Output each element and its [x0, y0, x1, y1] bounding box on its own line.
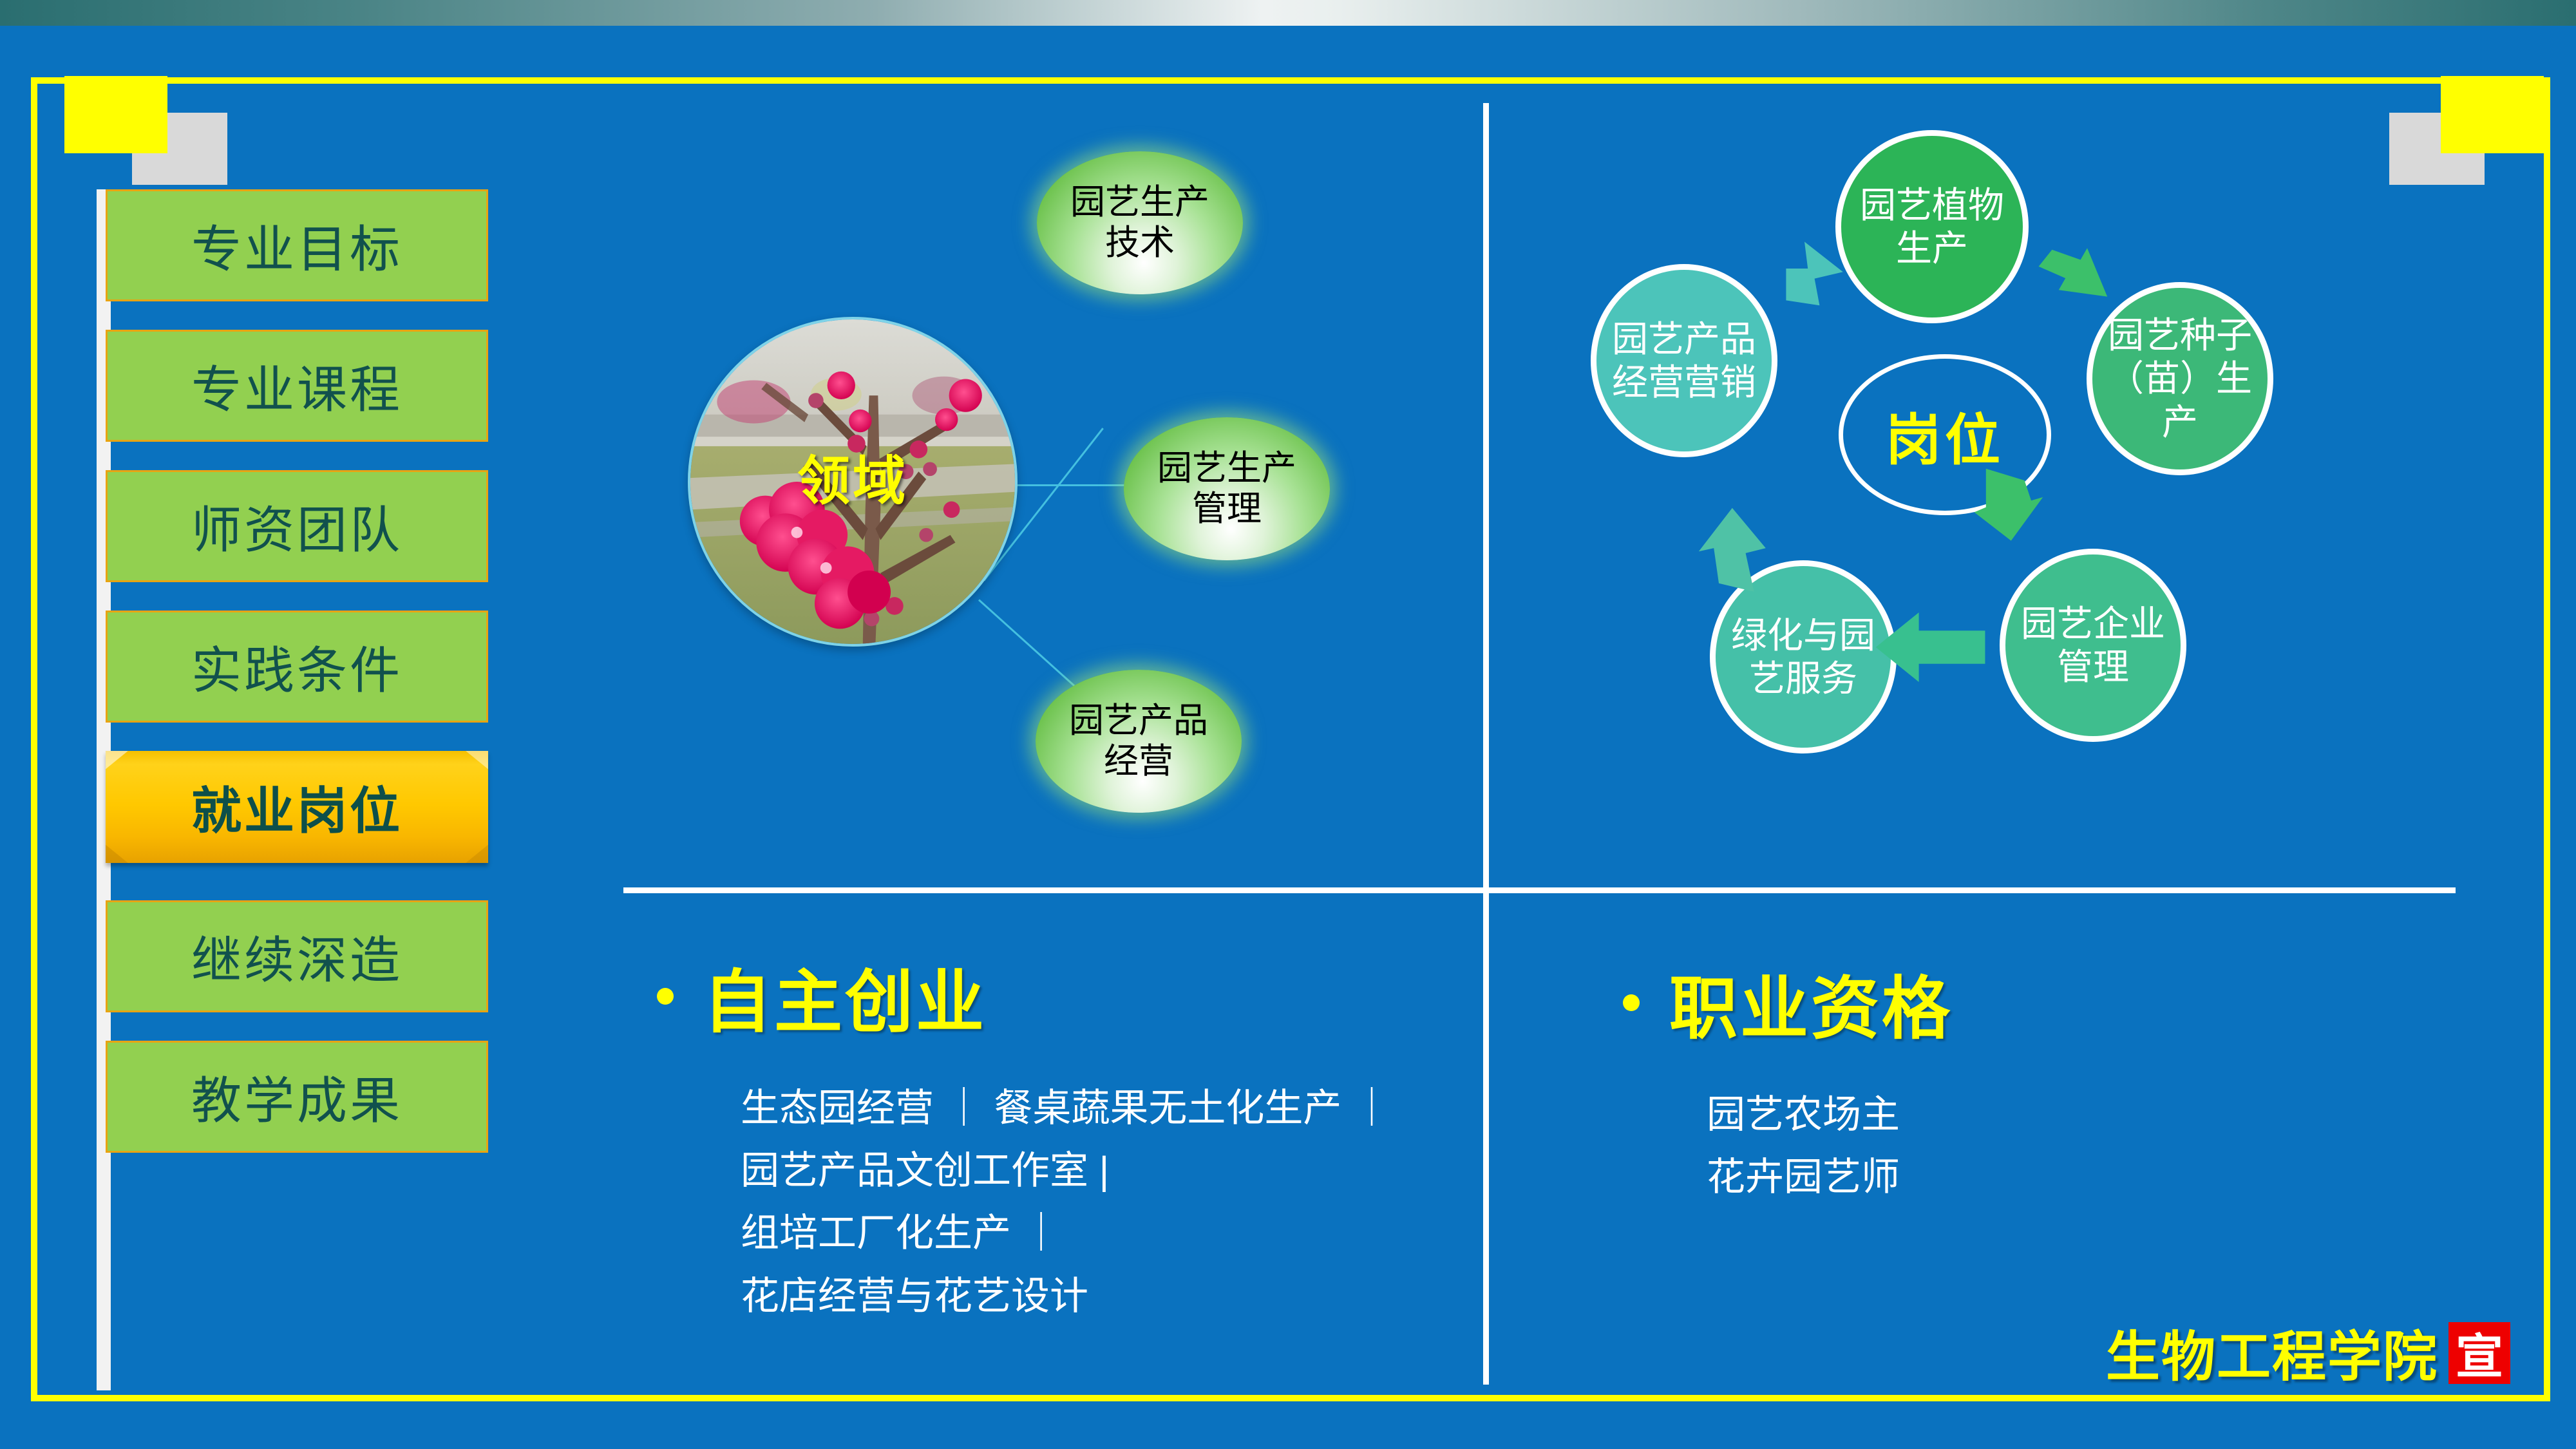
top-right-yellow-square [2441, 76, 2544, 153]
cycle-center-label: 岗位 [1886, 395, 2004, 475]
cycle-node-label: 园艺种子（苗）生产 [2103, 314, 2257, 444]
footer-seal-stamp: 宣 [2448, 1322, 2510, 1384]
sidebar-item-further-study[interactable]: 继续深造 [106, 900, 488, 1012]
sidebar-item-faculty-team[interactable]: 师资团队 [106, 470, 488, 582]
sidebar-item-major-goal[interactable]: 专业目标 [106, 189, 488, 301]
block-line: 花卉园艺师 [1707, 1146, 2396, 1208]
block-header: 自主创业 [657, 947, 1462, 1046]
footer-institution-name: 生物工程学院 [2106, 1314, 2438, 1392]
block-header: 职业资格 [1623, 953, 2396, 1052]
block-lines: 生态园经营 ｜ 餐桌蔬果无土化生产 ｜ 园艺产品文创工作室 | 组培工厂化生产 … [741, 1077, 1462, 1327]
sidebar-item-major-courses[interactable]: 专业课程 [106, 330, 488, 442]
cycle-arrow-down-right-icon [2029, 245, 2112, 328]
block-title: 职业资格 [1669, 953, 1953, 1052]
bubble-label: 园艺生产管理 [1142, 448, 1312, 529]
cycle-arrow-down-icon [1964, 464, 2048, 547]
cycle-node-label: 绿化与园艺服务 [1726, 614, 1880, 700]
footer-logo: 生物工程学院 宣 [2106, 1314, 2510, 1392]
block-line: 园艺产品文创工作室 | [741, 1139, 1462, 1202]
cycle-node-label: 园艺植物生产 [1851, 184, 2012, 270]
cycle-node-product-marketing: 园艺产品经营营销 [1591, 264, 1777, 457]
top-left-yellow-square [64, 76, 167, 153]
cycle-arrow-up-left-icon [1694, 502, 1777, 599]
cycle-node-seed-seedling: 园艺种子（苗）生产 [2087, 282, 2273, 475]
sidebar-item-label: 实践条件 [191, 630, 402, 703]
bubble-label: 园艺生产技术 [1055, 182, 1225, 263]
sidebar-item-label: 师资团队 [191, 490, 402, 562]
horizontal-divider [623, 887, 2456, 893]
domain-bubble-production-technology: 园艺生产技术 [1037, 151, 1243, 294]
sidebar-item-label: 专业目标 [191, 209, 402, 281]
sidebar-item-label: 继续深造 [191, 920, 402, 992]
sidebar-item-teaching-results[interactable]: 教学成果 [106, 1041, 488, 1153]
sidebar-item-practice-condition[interactable]: 实践条件 [106, 611, 488, 723]
sidebar-item-label: 专业课程 [191, 350, 402, 422]
domain-bubble-production-management: 园艺生产管理 [1124, 417, 1330, 560]
position-cycle-diagram: 园艺植物生产 园艺种子（苗）生产 园艺企业管理 绿化与园艺服务 园艺产品经营营销… [1578, 116, 2383, 857]
sidebar-item-employment-positions[interactable]: 就业岗位 [106, 751, 488, 863]
self-employment-block: 自主创业 生态园经营 ｜ 餐桌蔬果无土化生产 ｜ 园艺产品文创工作室 | 组培工… [657, 947, 1462, 1327]
professional-qualification-block: 职业资格 园艺农场主 花卉园艺师 [1623, 953, 2396, 1208]
bullet-dot-icon [1623, 994, 1640, 1011]
vertical-divider [1483, 103, 1489, 1385]
block-lines: 园艺农场主 花卉园艺师 [1707, 1083, 2396, 1208]
bullet-dot-icon [657, 988, 674, 1005]
cycle-node-plant-production: 园艺植物生产 [1835, 130, 2029, 323]
cycle-node-label: 园艺企业管理 [2016, 602, 2170, 688]
block-title: 自主创业 [703, 947, 987, 1046]
domain-bubble-product-business: 园艺产品经营 [1036, 670, 1242, 813]
block-line: 花店经营与花艺设计 [741, 1265, 1462, 1327]
domain-center-label: 领域 [688, 438, 1018, 515]
block-line: 组培工厂化生产 ｜ [741, 1202, 1462, 1264]
cycle-arrow-up-right-icon [1771, 235, 1855, 319]
sidebar-item-label: 就业岗位 [191, 771, 402, 843]
block-line: 生态园经营 ｜ 餐桌蔬果无土化生产 ｜ [741, 1077, 1462, 1139]
top-gradient-band [0, 0, 2576, 26]
cycle-node-label: 园艺产品经营营销 [1607, 317, 1761, 404]
cycle-node-enterprise-mgmt: 园艺企业管理 [2000, 549, 2186, 742]
sidebar-item-label: 教学成果 [191, 1061, 402, 1133]
cycle-arrow-left-icon [1871, 605, 1987, 689]
section-nav-sidebar: 专业目标 专业课程 师资团队 实践条件 就业岗位 继续深造 教学成果 [97, 189, 496, 1390]
block-line: 园艺农场主 [1707, 1083, 2396, 1146]
bubble-label: 园艺产品经营 [1054, 701, 1224, 781]
slide-canvas: 专业目标 专业课程 师资团队 实践条件 就业岗位 继续深造 教学成果 [0, 0, 2576, 1449]
